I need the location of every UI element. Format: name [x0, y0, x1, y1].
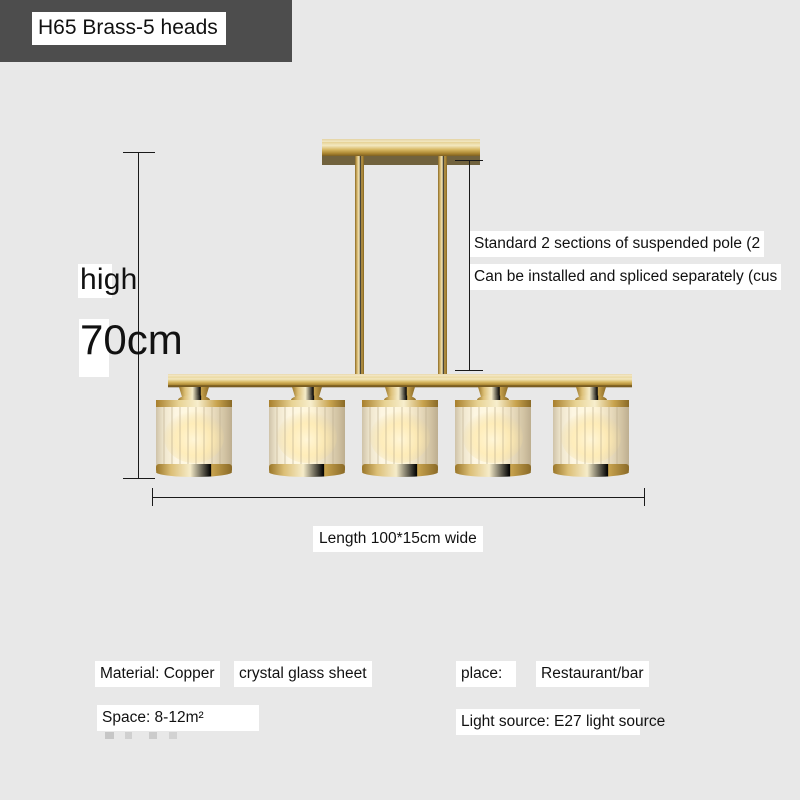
arm-bar — [168, 374, 632, 388]
spec-material-label: Material: Copper — [95, 661, 220, 687]
spec-light-source: Light source: E27 light source — [456, 709, 640, 735]
spec-place-value: Restaurant/bar — [536, 661, 649, 687]
page-title: H65 Brass-5 heads — [32, 12, 226, 45]
height-dim-top-cap — [123, 152, 155, 153]
pole-dim-bottom-cap — [455, 370, 483, 371]
height-label: high — [80, 262, 138, 298]
callout-spliced-separately: Can be installed and spliced separately … — [470, 264, 781, 290]
lamp-head — [156, 387, 232, 477]
lamp-head — [455, 387, 531, 477]
lamp-head — [553, 387, 629, 477]
height-value: 70cm — [80, 315, 183, 365]
length-label: Length 100*15cm wide — [313, 526, 483, 552]
ceiling-mount — [322, 139, 480, 165]
callout-standard-sections: Standard 2 sections of suspended pole (2 — [470, 231, 764, 257]
lamp-heads — [156, 387, 629, 477]
length-dimension-line — [152, 497, 644, 498]
height-value-text: 70cm — [80, 316, 183, 363]
spec-place-label: place: — [456, 661, 516, 687]
height-label-text: high — [80, 263, 138, 296]
spec-space: Space: 8-12m² — [97, 705, 259, 731]
length-dim-right-cap — [644, 488, 645, 506]
lamp-head — [362, 387, 438, 477]
product-infographic: H65 Brass-5 heads high 70cm Standard 2 s… — [0, 0, 800, 800]
spec-material-value: crystal glass sheet — [234, 661, 372, 687]
drop-rods — [355, 156, 447, 378]
lamp-head — [269, 387, 345, 477]
occluded-text-remnant — [105, 732, 201, 739]
height-dim-bottom-cap — [123, 478, 155, 479]
